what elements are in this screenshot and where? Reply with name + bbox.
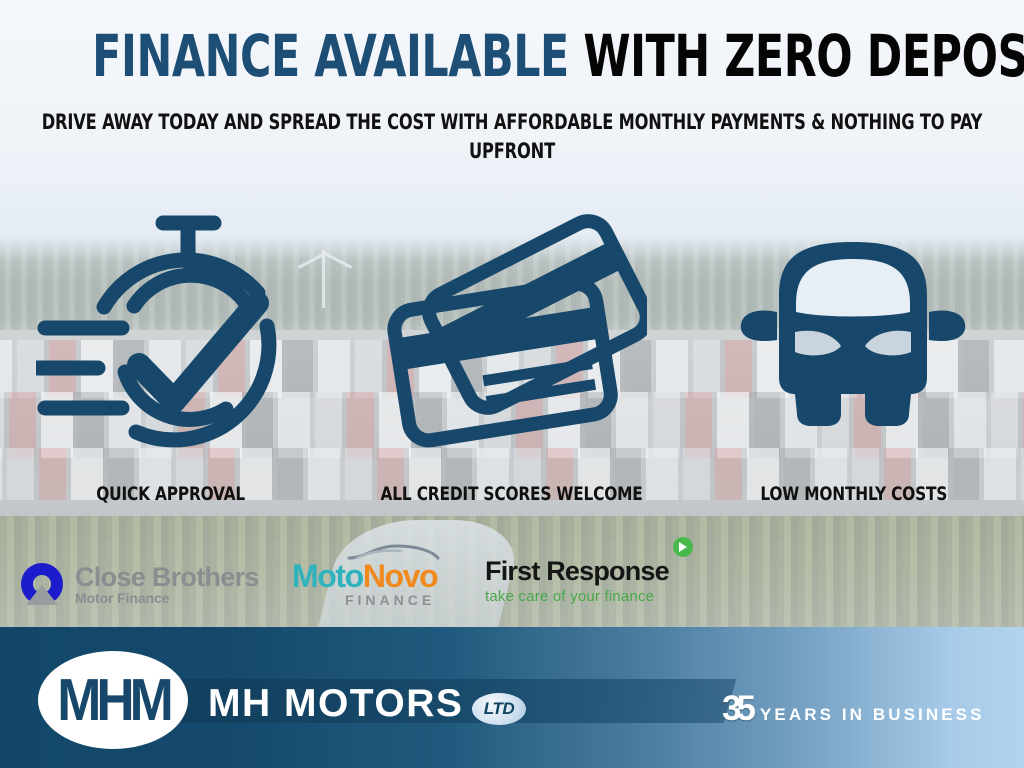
lender-name-part1: Moto [292, 558, 363, 594]
subheadline: DRIVE AWAY TODAY AND SPREAD THE COST WIT… [26, 108, 998, 166]
feature-list: QUICK APPROVAL [0, 205, 1024, 505]
lender-name: First Response [485, 556, 669, 586]
feature-quick-approval: QUICK APPROVAL [0, 205, 341, 505]
feature-low-monthly-costs: LOW MONTHLY COSTS [683, 205, 1024, 505]
car-front-icon [733, 205, 973, 465]
lender-subtitle: take care of your finance [485, 588, 654, 605]
ltd-badge: LTD [472, 693, 526, 725]
lender-name-part2: Novo [363, 558, 437, 594]
years-in-business: 35 YEARS IN BUSINESS [722, 689, 985, 729]
years-number: 35 [722, 689, 751, 729]
lender-close-brothers: Close Brothers Motor Finance [18, 560, 259, 608]
lender-subtitle: Motor Finance [75, 591, 259, 606]
finance-promo-banner: FINANCE AVAILABLE WITH ZERO DEPOSIT DRIV… [0, 0, 1024, 768]
mhm-monogram: MHM [57, 666, 169, 734]
ltd-label: LTD [484, 699, 515, 719]
mhm-logo: MHM [38, 651, 188, 749]
motonovo-car-icon [345, 542, 441, 562]
mh-motors-wordmark: MH MOTORS [208, 682, 463, 726]
years-label: YEARS IN BUSINESS [760, 705, 985, 725]
lender-first-response: First Response take care of your finance [485, 556, 669, 605]
close-brothers-arch-icon [18, 560, 66, 608]
green-play-circle-icon [673, 537, 693, 557]
lender-name: Close Brothers [75, 563, 259, 591]
credit-cards-icon [377, 205, 647, 465]
feature-all-credit-scores: ALL CREDIT SCORES WELCOME [341, 205, 682, 505]
stopwatch-check-icon [36, 205, 306, 465]
feature-label: QUICK APPROVAL [96, 483, 245, 505]
lender-logo-strip: Close Brothers Motor Finance MotoNovo FI… [0, 552, 1024, 628]
headline: FINANCE AVAILABLE WITH ZERO DEPOSIT [92, 27, 932, 85]
feature-label: ALL CREDIT SCORES WELCOME [381, 483, 643, 505]
headline-black-part: WITH ZERO DEPOSIT [583, 22, 1024, 90]
feature-label: LOW MONTHLY COSTS [760, 483, 947, 505]
lender-motonovo: MotoNovo FINANCE [292, 558, 437, 608]
footer-brand-bar: MHM MH MOTORS LTD 35 YEARS IN BUSINESS [0, 627, 1024, 768]
headline-blue-part: FINANCE AVAILABLE [92, 22, 569, 90]
